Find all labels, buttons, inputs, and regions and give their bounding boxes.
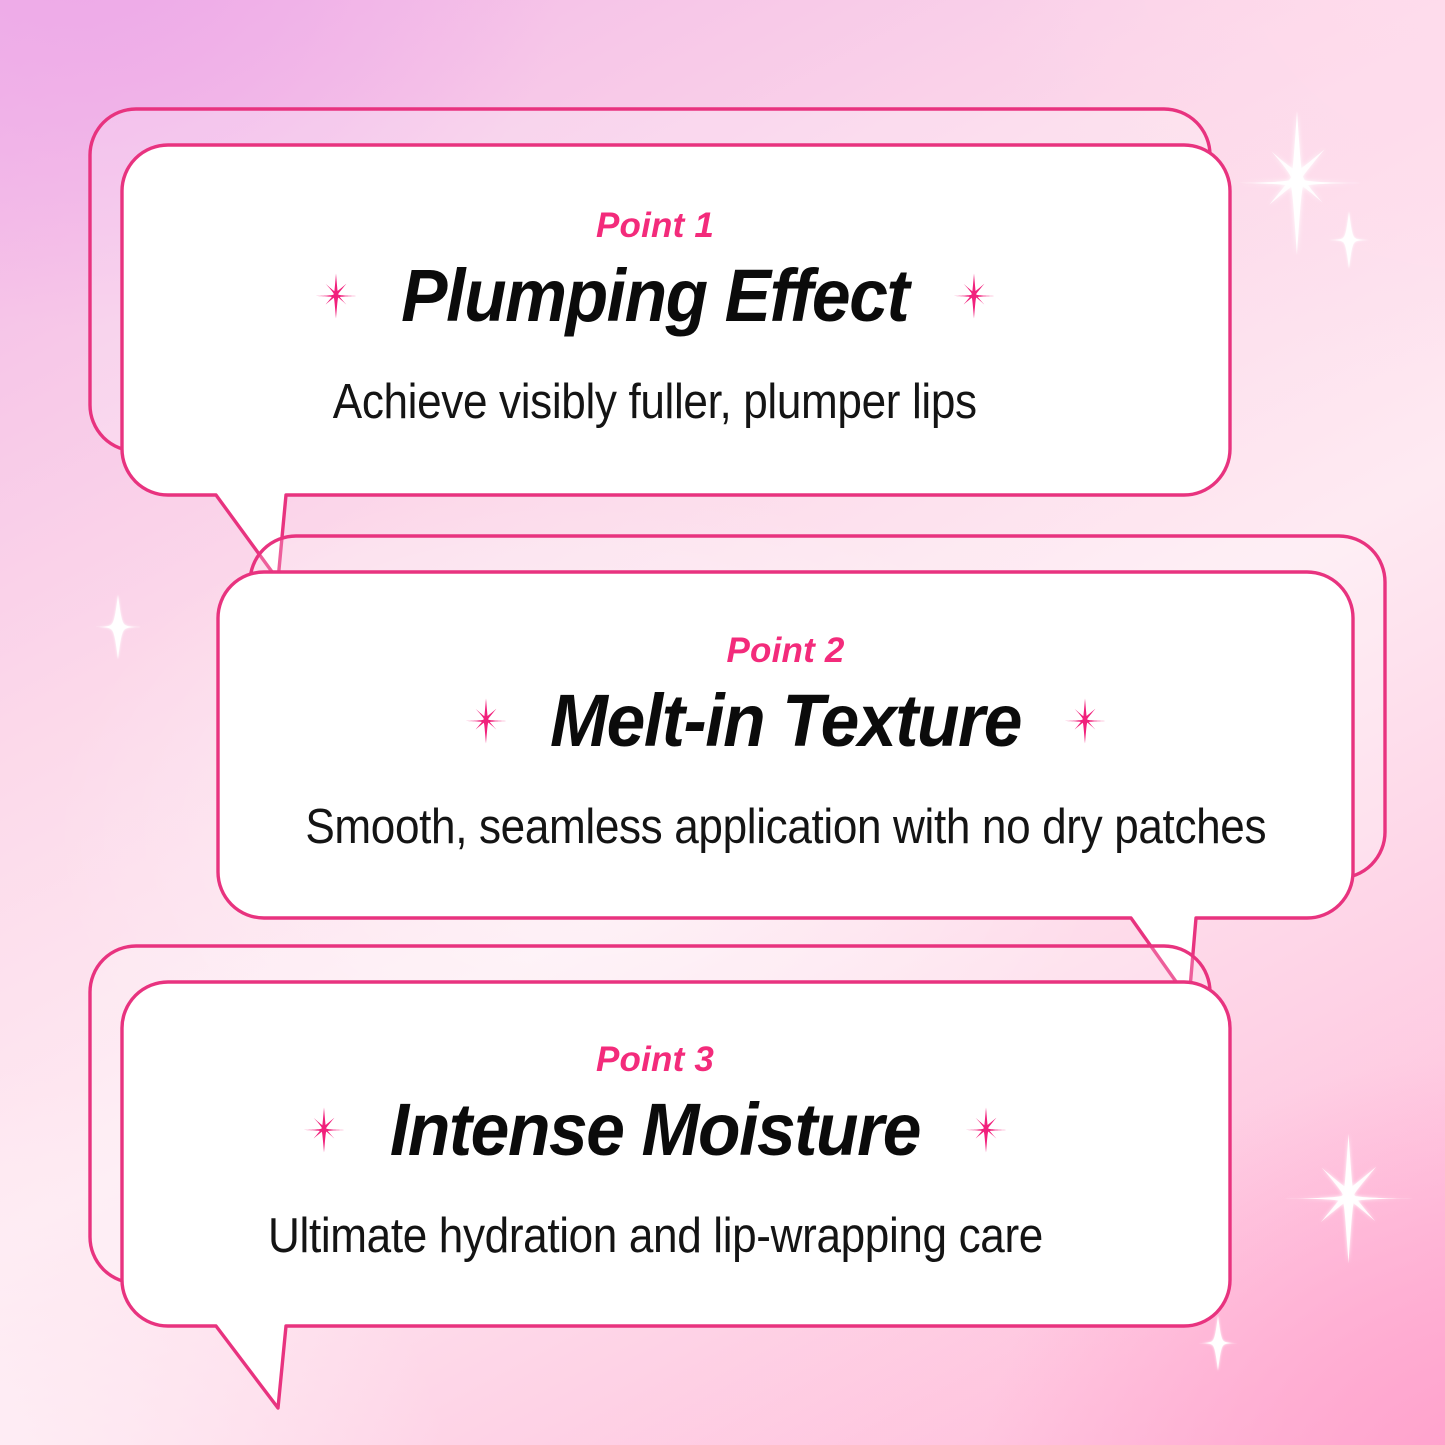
four-point-star-icon — [963, 1107, 1009, 1153]
card-3-heading: Intense Moisture — [390, 1091, 920, 1169]
card-1-content: Point 1 Plumping Effect — [122, 145, 1188, 495]
card-2-subtitle-wrap: Smooth, seamless application with no dry… — [252, 799, 1320, 857]
four-point-star-icon — [1062, 698, 1108, 744]
four-point-star-icon — [313, 273, 359, 319]
card-3-subtitle: Ultimate hydration and lip-wrapping care — [268, 1208, 1043, 1266]
card-3-content: Point 3 Intense Moisture — [122, 982, 1188, 1326]
card-1-heading-row: Plumping Effect — [313, 257, 996, 335]
card-3-subtitle-wrap: Ultimate hydration and lip-wrapping care — [225, 1208, 1086, 1266]
four-point-star-icon — [951, 273, 997, 319]
point-card-2[interactable]: Point 2 Melt-in Texture — [210, 532, 1385, 962]
card-2-content: Point 2 Melt-in Texture — [218, 572, 1353, 918]
card-3-heading-row: Intense Moisture — [301, 1091, 1009, 1169]
point-card-1[interactable]: Point 1 Plumping Effect — [80, 100, 1220, 540]
card-1-subtitle: Achieve visibly fuller, plumper lips — [333, 374, 977, 432]
card-2-subtitle: Smooth, seamless application with no dry… — [305, 799, 1266, 857]
four-point-star-icon — [301, 1107, 347, 1153]
card-1-heading: Plumping Effect — [401, 257, 908, 335]
card-2-heading-row: Melt-in Texture — [463, 682, 1108, 760]
point-card-3[interactable]: Point 3 Intense Moisture — [80, 940, 1220, 1360]
four-point-star-icon — [463, 698, 509, 744]
card-1-point-label: Point 1 — [596, 208, 714, 243]
card-2-point-label: Point 2 — [726, 633, 844, 668]
card-1-subtitle-wrap: Achieve visibly fuller, plumper lips — [297, 374, 1012, 432]
card-3-point-label: Point 3 — [596, 1042, 714, 1077]
card-2-heading: Melt-in Texture — [550, 682, 1021, 760]
